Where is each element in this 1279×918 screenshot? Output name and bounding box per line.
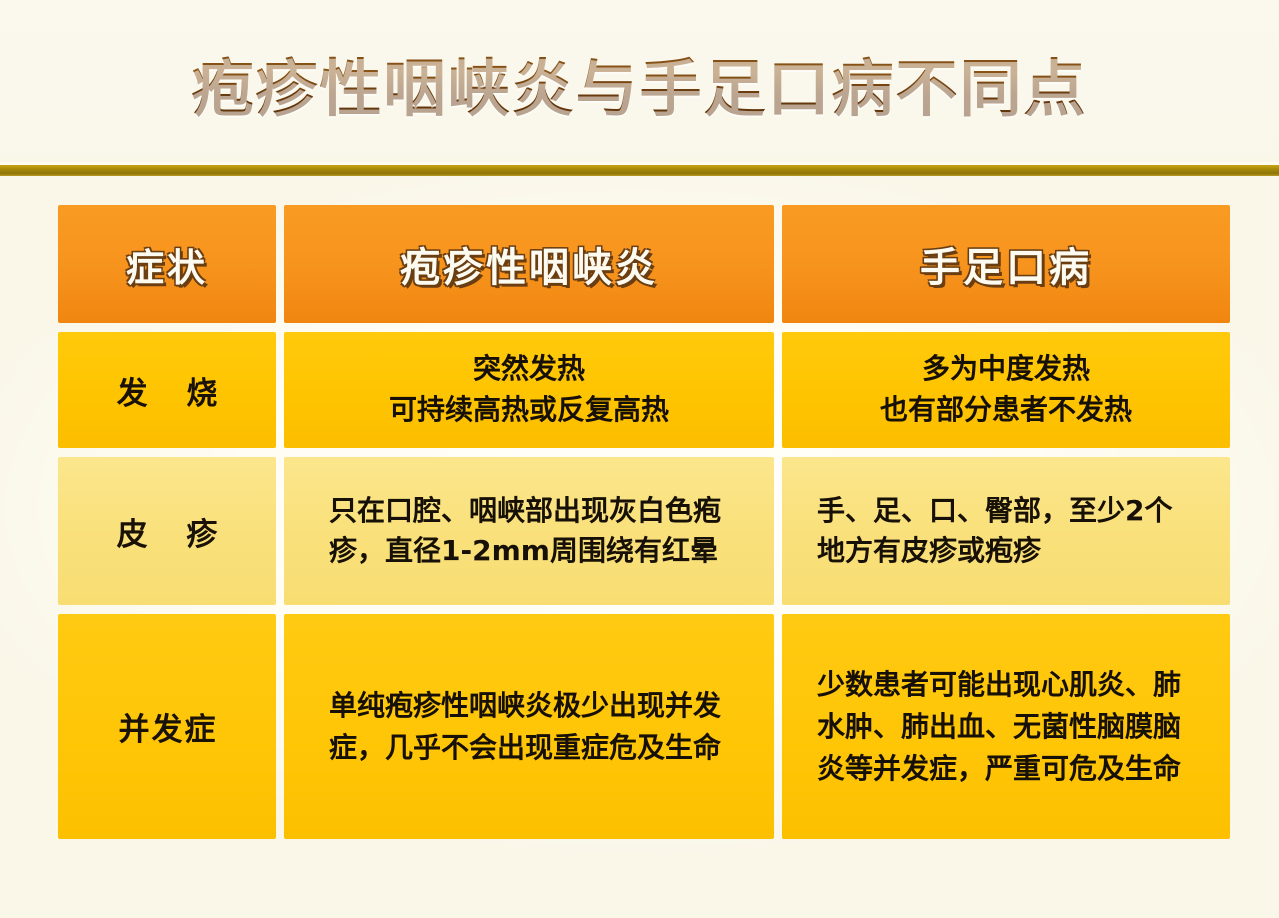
header-cell-herpangina: 疱疹性咽峡炎 xyxy=(284,205,774,323)
comparison-table: 症状 疱疹性咽峡炎 手足口病 发 烧 突然发热可持续高热或反复高热 多为中度发热… xyxy=(58,205,1222,838)
row-label-cell-rash: 皮 疹 xyxy=(58,457,276,605)
row-value-cell-rash-hfmd: 手、足、口、臀部，至少2个地方有皮疹或疱疹 xyxy=(782,457,1230,605)
row-label-complications: 并发症 xyxy=(117,704,218,749)
title-band: 疱疹性咽峡炎与手足口病不同点 xyxy=(0,0,1279,166)
row-value-fever-hfmd: 多为中度发热也有部分患者不发热 xyxy=(880,349,1132,430)
row-label-cell-complications: 并发症 xyxy=(58,614,276,839)
row-value-cell-complications-herpangina: 单纯疱疹性咽峡炎极少出现并发症，几乎不会出现重症危及生命 xyxy=(284,614,774,839)
title-divider xyxy=(0,165,1279,176)
row-value-cell-fever-herpangina: 突然发热可持续高热或反复高热 xyxy=(284,332,774,448)
header-label-herpangina: 疱疹性咽峡炎 xyxy=(400,235,658,293)
table-row: 发 烧 突然发热可持续高热或反复高热 多为中度发热也有部分患者不发热 xyxy=(58,332,1222,448)
header-cell-hfmd: 手足口病 xyxy=(782,205,1230,323)
page-title: 疱疹性咽峡炎与手足口病不同点 xyxy=(191,38,1087,128)
header-label-symptom: 症状 xyxy=(126,237,208,292)
table-header-row: 症状 疱疹性咽峡炎 手足口病 xyxy=(58,205,1222,323)
row-value-cell-rash-herpangina: 只在口腔、咽峡部出现灰白色疱疹，直径1-2mm周围绕有红晕 xyxy=(284,457,774,605)
row-value-complications-hfmd: 少数患者可能出现心肌炎、肺水肿、肺出血、无菌性脑膜脑炎等并发症，严重可危及生命 xyxy=(817,664,1195,790)
header-cell-symptom: 症状 xyxy=(58,205,276,323)
table-row: 皮 疹 只在口腔、咽峡部出现灰白色疱疹，直径1-2mm周围绕有红晕 手、足、口、… xyxy=(58,457,1222,605)
row-label-fever: 发 烧 xyxy=(103,368,232,413)
row-value-complications-herpangina: 单纯疱疹性咽峡炎极少出现并发症，几乎不会出现重症危及生命 xyxy=(329,685,729,769)
row-value-rash-herpangina: 只在口腔、咽峡部出现灰白色疱疹，直径1-2mm周围绕有红晕 xyxy=(329,491,729,571)
table-row: 并发症 单纯疱疹性咽峡炎极少出现并发症，几乎不会出现重症危及生命 少数患者可能出… xyxy=(58,614,1222,839)
row-value-rash-hfmd: 手、足、口、臀部，至少2个地方有皮疹或疱疹 xyxy=(817,491,1195,571)
row-value-cell-complications-hfmd: 少数患者可能出现心肌炎、肺水肿、肺出血、无菌性脑膜脑炎等并发症，严重可危及生命 xyxy=(782,614,1230,839)
row-label-cell-fever: 发 烧 xyxy=(58,332,276,448)
row-label-rash: 皮 疹 xyxy=(103,509,232,554)
row-value-cell-fever-hfmd: 多为中度发热也有部分患者不发热 xyxy=(782,332,1230,448)
row-value-fever-herpangina: 突然发热可持续高热或反复高热 xyxy=(389,349,669,430)
header-label-hfmd: 手足口病 xyxy=(920,235,1092,293)
